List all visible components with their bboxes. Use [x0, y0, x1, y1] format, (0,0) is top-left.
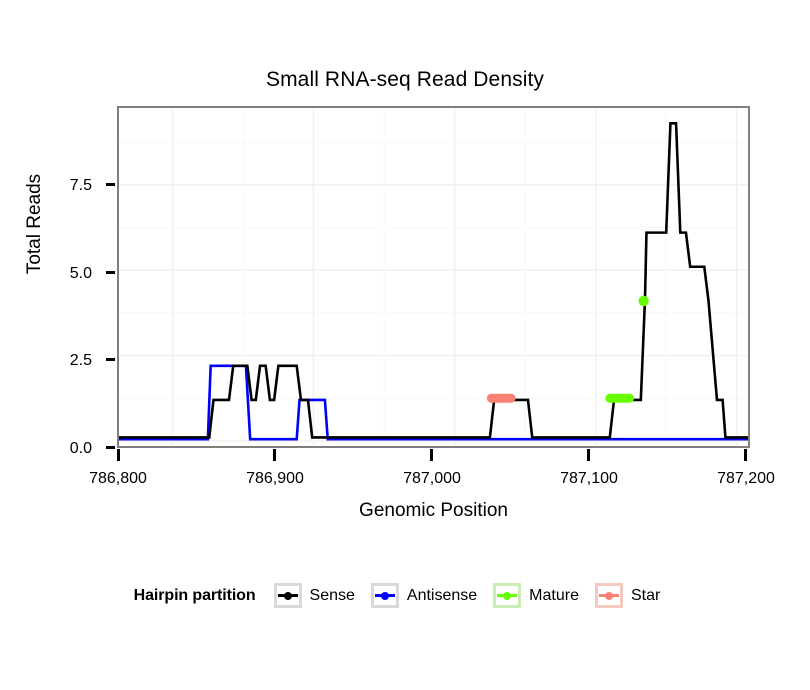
- data-series: [119, 123, 748, 439]
- legend-entry-list: SenseAntisenseMatureStar: [274, 583, 677, 608]
- legend-entry-sense[interactable]: Sense: [274, 583, 364, 608]
- x-tick-label-1: 786,900: [215, 470, 335, 488]
- legend-label: Antisense: [407, 587, 477, 605]
- legend-key-sense-icon: [274, 583, 302, 608]
- legend-key-dot: [284, 592, 292, 600]
- grid-lines: [119, 108, 748, 446]
- x-tick-label-0: 786,800: [58, 470, 178, 488]
- plot-area: [119, 108, 748, 446]
- legend-key-star-icon: [595, 583, 623, 608]
- x-tick-mark-3: [587, 449, 590, 461]
- y-tick-mark-2: [106, 271, 115, 274]
- legend-key-mature-icon: [493, 583, 521, 608]
- y-axis-title: Total Reads: [24, 129, 46, 319]
- y-tick-mark-0: [106, 446, 115, 449]
- legend-entry-antisense[interactable]: Antisense: [371, 583, 486, 608]
- x-tick-mark-2: [430, 449, 433, 461]
- x-tick-mark-4: [744, 449, 747, 461]
- legend-label: Mature: [529, 587, 579, 605]
- legend-entry-mature[interactable]: Mature: [493, 583, 588, 608]
- x-tick-mark-0: [117, 449, 120, 461]
- series-sense: [119, 123, 748, 437]
- legend-title: Hairpin partition: [134, 587, 256, 605]
- legend-key-antisense-icon: [371, 583, 399, 608]
- y-tick-mark-1: [106, 358, 115, 361]
- x-tick-label-4: 787,200: [686, 470, 806, 488]
- legend-label: Sense: [310, 587, 355, 605]
- x-tick-label-3: 787,100: [529, 470, 649, 488]
- chart-figure: Small RNA-seq Read Density Total Reads 0…: [0, 0, 810, 690]
- legend-entry-star[interactable]: Star: [595, 583, 669, 608]
- chart-legend: Hairpin partition SenseAntisenseMatureSt…: [0, 583, 810, 608]
- y-tick-label-1: 2.5: [46, 352, 92, 370]
- x-axis-title: Genomic Position: [117, 500, 750, 522]
- y-tick-mark-3: [106, 183, 115, 186]
- legend-key-dot: [605, 592, 613, 600]
- y-tick-label-3: 7.5: [46, 177, 92, 195]
- chart-title: Small RNA-seq Read Density: [0, 68, 810, 92]
- x-tick-label-2: 787,000: [372, 470, 492, 488]
- y-tick-label-0: 0.0: [46, 440, 92, 458]
- legend-key-dot: [381, 592, 389, 600]
- plot-panel: [117, 106, 750, 448]
- x-tick-mark-1: [273, 449, 276, 461]
- y-tick-label-2: 5.0: [46, 265, 92, 283]
- legend-key-dot: [503, 592, 511, 600]
- legend-label: Star: [631, 587, 660, 605]
